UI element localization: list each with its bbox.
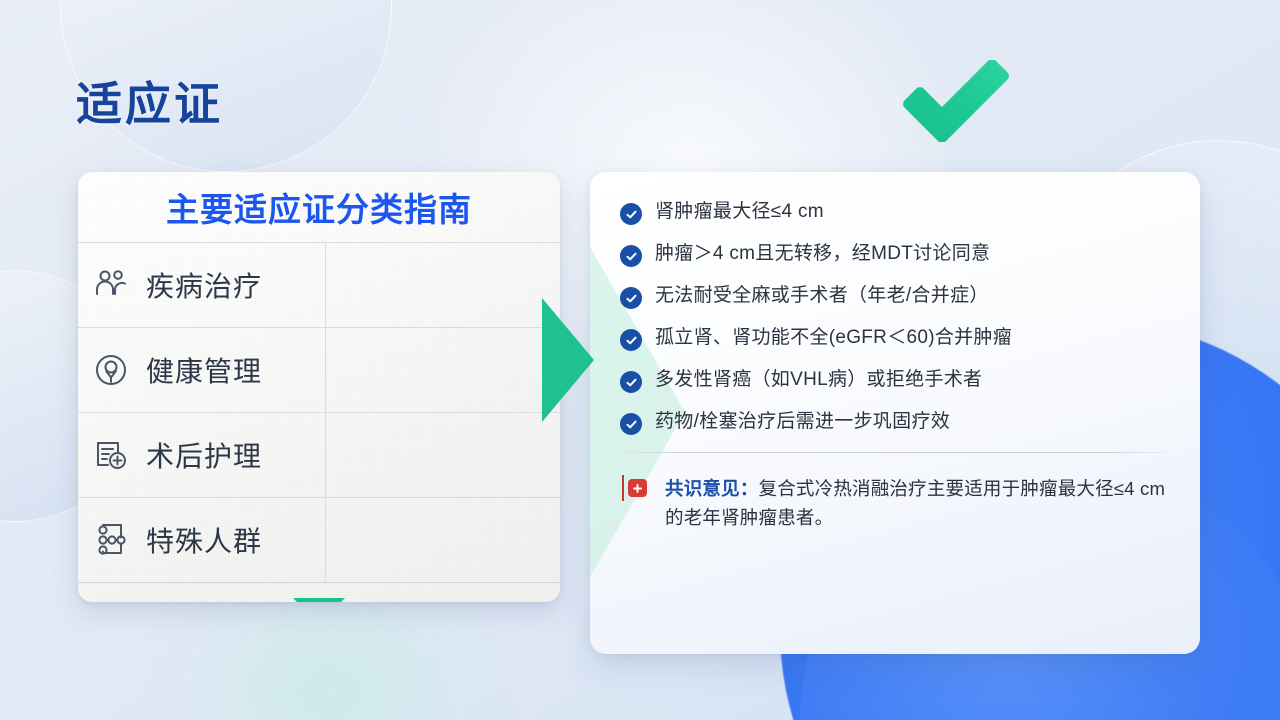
- list-item: 药物/栓塞治疗后需进一步巩固疗效: [620, 410, 1170, 435]
- list-item: 无法耐受全麻或手术者（年老/合并症）: [620, 284, 1170, 309]
- list-item: 肿瘤＞4 cm且无转移，经MDT讨论同意: [620, 242, 1170, 267]
- section-divider: [622, 452, 1168, 453]
- check-circle-icon: [620, 329, 642, 351]
- slide-canvas: 适应证 主要适应证分类指南: [0, 0, 1280, 720]
- consensus-note: 共识意见：复合式冷热消融治疗主要适用于肿瘤最大径≤4 cm的老年肾肿瘤患者。: [620, 475, 1170, 532]
- green-checkmark-icon: [900, 60, 1012, 142]
- check-circle-icon: [620, 371, 642, 393]
- list-item-text: 无法耐受全麻或手术者（年老/合并症）: [655, 284, 989, 309]
- table-cell-value: [326, 328, 560, 412]
- down-arrow-icon: [293, 598, 345, 602]
- consensus-note-body: 共识意见：复合式冷热消融治疗主要适用于肿瘤最大径≤4 cm的老年肾肿瘤患者。: [665, 475, 1170, 532]
- list-item-text: 孤立肾、肾功能不全(eGFR＜60)合并肿瘤: [655, 326, 1012, 351]
- table-row[interactable]: 特殊人群: [78, 498, 560, 583]
- list-item-text: 肾肿瘤最大径≤4 cm: [655, 200, 824, 225]
- list-item-text: 药物/栓塞治疗后需进一步巩固疗效: [655, 410, 950, 435]
- table-cell-label: 健康管理: [78, 328, 326, 412]
- left-card-header: 主要适应证分类指南: [78, 172, 560, 242]
- table-row[interactable]: 术后护理: [78, 413, 560, 498]
- left-card-title: 主要适应证分类指南: [166, 183, 472, 231]
- medical-cross-icon: [622, 477, 652, 503]
- indication-table: 疾病治疗 健康管理: [78, 242, 560, 583]
- consensus-note-label: 共识意见：: [665, 478, 759, 499]
- document-plus-icon: [90, 434, 132, 476]
- list-item: 多发性肾癌（如VHL病）或拒绝手术者: [620, 368, 1170, 393]
- list-item: 孤立肾、肾功能不全(eGFR＜60)合并肿瘤: [620, 326, 1170, 351]
- network-cluster-icon: [90, 519, 132, 561]
- check-circle-icon: [620, 245, 642, 267]
- table-row-label: 特殊人群: [146, 520, 262, 560]
- table-row[interactable]: 健康管理: [78, 328, 560, 413]
- table-cell-label: 疾病治疗: [78, 243, 326, 327]
- right-arrow-icon: [542, 298, 594, 422]
- indication-category-card: 主要适应证分类指南 疾病治疗: [78, 172, 560, 602]
- check-circle-icon: [620, 413, 642, 435]
- table-cell-value: [326, 498, 560, 582]
- check-circle-icon: [620, 287, 642, 309]
- table-cell-value: [326, 413, 560, 497]
- table-row-label: 术后护理: [146, 435, 262, 475]
- indication-bullet-list: 肾肿瘤最大径≤4 cm 肿瘤＞4 cm且无转移，经MDT讨论同意 无法耐受全麻或…: [620, 200, 1170, 435]
- users-icon: [90, 264, 132, 306]
- table-cell-label: 特殊人群: [78, 498, 326, 582]
- page-title: 适应证: [76, 68, 223, 134]
- table-cell-value: [326, 243, 560, 327]
- table-cell-label: 术后护理: [78, 413, 326, 497]
- list-item-text: 多发性肾癌（如VHL病）或拒绝手术者: [655, 368, 982, 393]
- table-row-label: 健康管理: [146, 350, 262, 390]
- check-circle-icon: [620, 203, 642, 225]
- indication-details-card: 肾肿瘤最大径≤4 cm 肿瘤＞4 cm且无转移，经MDT讨论同意 无法耐受全麻或…: [590, 172, 1200, 654]
- list-item: 肾肿瘤最大径≤4 cm: [620, 200, 1170, 225]
- list-item-text: 肿瘤＞4 cm且无转移，经MDT讨论同意: [655, 242, 990, 267]
- health-pin-icon: [90, 349, 132, 391]
- table-row[interactable]: 疾病治疗: [78, 243, 560, 328]
- table-row-label: 疾病治疗: [146, 265, 262, 305]
